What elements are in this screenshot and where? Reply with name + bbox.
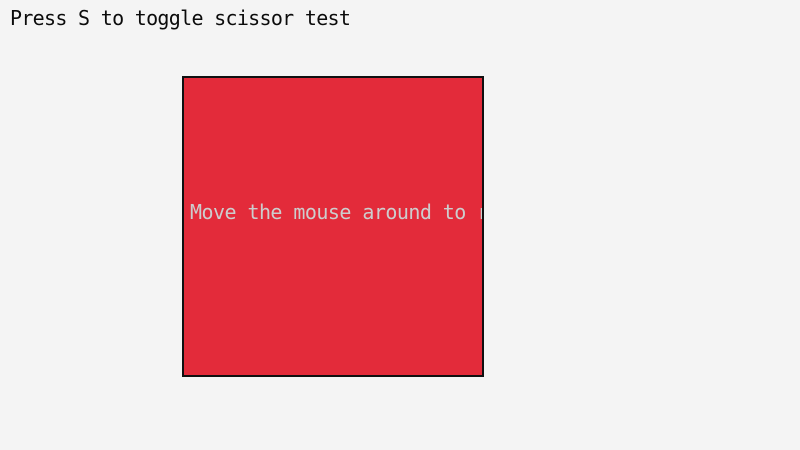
scissor-rectangle-fill — [184, 78, 482, 375]
app-canvas: Press S to toggle scissor test Move the … — [0, 0, 800, 450]
instruction-text: Press S to toggle scissor test — [10, 6, 350, 30]
scissor-clipped-text: Move the mouse around to r — [190, 200, 484, 224]
scissor-rectangle[interactable]: Move the mouse around to r — [182, 76, 484, 377]
